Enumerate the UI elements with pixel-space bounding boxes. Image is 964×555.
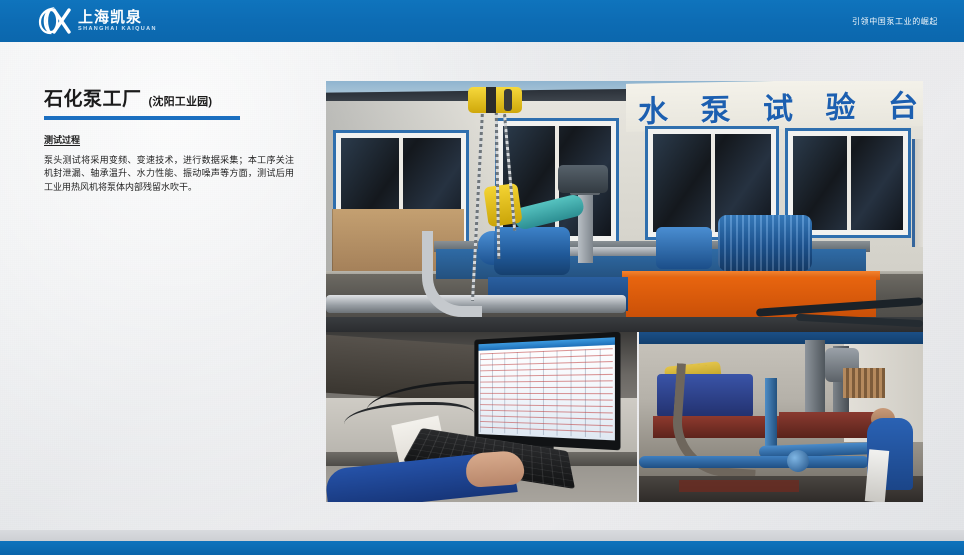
text-column: 石化泵工厂 (沈阳工业园) 测试过程 泵头测试将采用变频、变速技术，进行数据采集… xyxy=(44,84,302,194)
photo-secondary-motor xyxy=(656,227,712,269)
company-logo[interactable]: 上海凯泉 SHANGHAI KAIQUAN xyxy=(38,6,157,36)
photo-finned-cooler xyxy=(843,368,885,398)
banner-char-4: 验 xyxy=(826,82,856,127)
photo-monitor-screen xyxy=(478,337,614,440)
page-title-sub: (沈阳工业园) xyxy=(149,93,213,109)
banner-char-1: 水 xyxy=(638,86,668,131)
photo-hoist-band xyxy=(504,89,512,111)
logo-wordmark: 上海凯泉 SHANGHAI KAIQUAN xyxy=(78,10,157,33)
header-tagline: 引领中国泵工业的崛起 xyxy=(852,0,938,42)
banner-char-2: 泵 xyxy=(701,85,731,130)
photo-vertical-pipe xyxy=(765,378,777,456)
photo-collage: 水 泵 试 验 台 xyxy=(326,81,923,502)
kaiquan-logo-icon xyxy=(38,7,72,35)
logo-text-en: SHANGHAI KAIQUAN xyxy=(78,27,157,33)
body-paragraph: 泵头测试将采用变频、变速技术，进行数据采集；本工序关注机封泄漏、轴承温升、水力性… xyxy=(44,154,294,194)
photo-worker-hand xyxy=(465,450,525,488)
photo-hoist-band xyxy=(486,87,496,113)
slide: 上海凯泉 SHANGHAI KAIQUAN 引领中国泵工业的崛起 石化泵工厂 (… xyxy=(0,0,964,555)
photo-yellow-lifting-clamp xyxy=(483,183,522,227)
photo-pump-body xyxy=(494,227,570,275)
photo-blue-pipe xyxy=(639,456,869,468)
header-bar: 上海凯泉 SHANGHAI KAIQUAN 引领中国泵工业的崛起 xyxy=(0,0,964,42)
banner-char-5: 台 xyxy=(888,81,918,126)
photo-pipe-flange xyxy=(787,450,809,472)
photo-floor-marking xyxy=(679,480,799,492)
section-label: 测试过程 xyxy=(44,133,80,146)
photo-door xyxy=(912,139,923,247)
footer-bar xyxy=(0,541,964,555)
pump-test-bench-photo: 水 泵 试 验 台 xyxy=(326,81,923,332)
photo-banner-text: 水 泵 试 验 台 xyxy=(638,81,918,131)
petrochemical-pump-skid-photo xyxy=(639,332,923,502)
photo-computer-monitor xyxy=(474,332,620,450)
photo-blue-canopy xyxy=(639,332,923,344)
page-title: 石化泵工厂 (沈阳工业园) xyxy=(44,84,302,111)
title-underline-rule xyxy=(44,116,240,120)
photo-orange-base xyxy=(626,277,876,319)
photo-motor-fins xyxy=(718,215,812,271)
logo-text-cn: 上海凯泉 xyxy=(78,10,157,25)
page-title-main: 石化泵工厂 xyxy=(44,84,142,111)
photo-valve xyxy=(558,165,608,193)
banner-char-3: 试 xyxy=(763,84,793,129)
footer-divider xyxy=(0,530,964,541)
photo-screen-spreadsheet xyxy=(480,348,613,438)
operator-data-acquisition-photo xyxy=(326,332,637,502)
